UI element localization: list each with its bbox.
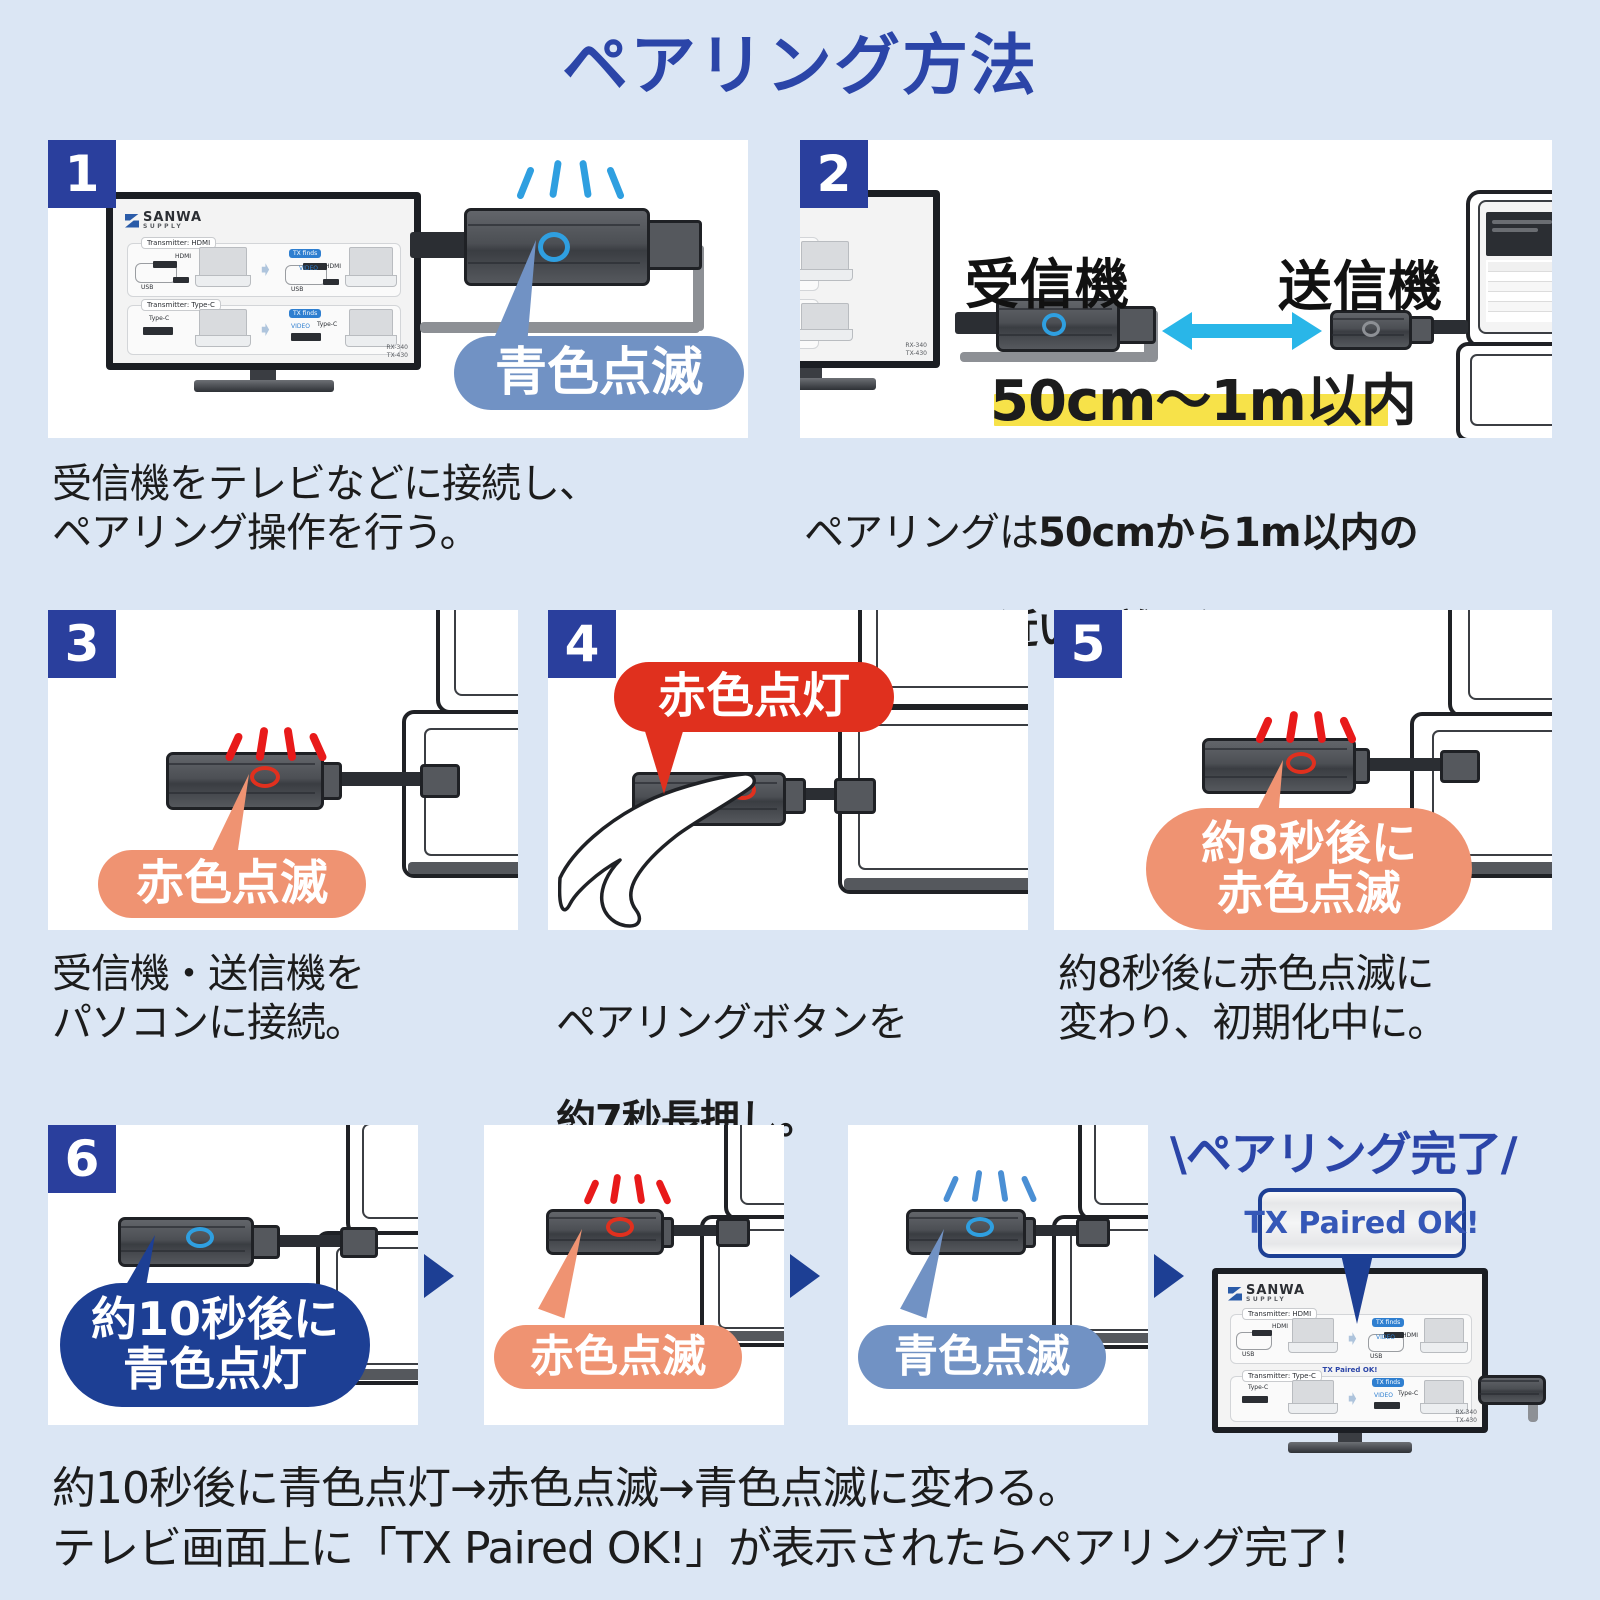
caption4-line1: ペアリングボタンを bbox=[556, 1000, 907, 1046]
sequence-arrow-2 bbox=[790, 1254, 820, 1298]
step-caption-4: ペアリングボタンを 約7秒長押し。 bbox=[556, 950, 1026, 1145]
step-badge-3: 3 bbox=[48, 610, 116, 678]
receiver-dongle-final bbox=[1478, 1375, 1540, 1399]
callout-10sec-blue-solid-6: 約10秒後に 青色点灯 bbox=[60, 1283, 370, 1407]
tv-illustration-2: ➧ TX finds HDMI USB ➧ TX finds Type-C bbox=[800, 190, 940, 390]
sanwa-logo: SANWA SUPPLY bbox=[125, 211, 202, 230]
led-indicator-off bbox=[1362, 321, 1380, 337]
tv-final-arrow-2: ➧ bbox=[1344, 1388, 1361, 1408]
tv-illustration-1: SANWA SUPPLY Transmitter: HDMI HDMI USB … bbox=[106, 192, 421, 392]
step-badge-5: 5 bbox=[1054, 610, 1122, 678]
step-panel-4: 4 赤色点灯 bbox=[548, 610, 1028, 930]
tv-final-lbl-video-1: VIDEO bbox=[1376, 1334, 1395, 1341]
sequence-arrow-1 bbox=[424, 1254, 454, 1298]
step-panel-6: 6 約10秒後に 青色点灯 bbox=[48, 1125, 418, 1425]
blink-rays-blue-1 bbox=[518, 158, 638, 204]
sanwa-brand-sub-final: SUPPLY bbox=[1246, 1297, 1305, 1303]
tv-label-video-2: VIDEO bbox=[291, 323, 310, 330]
tv-label-usb-1: USB bbox=[141, 284, 153, 291]
tv2-model-number: RX-340 TX-430 bbox=[905, 342, 927, 357]
step-caption-5: 約8秒後に赤色点滅に 変わり、初期化中に。 bbox=[1058, 950, 1558, 1048]
led-indicator-blue-solid-6 bbox=[186, 1227, 214, 1248]
laptop-illustration-2: 10s bbox=[1456, 190, 1552, 430]
callout-red-blink-b: 赤色点滅 bbox=[494, 1325, 742, 1389]
step-badge-4: 4 bbox=[548, 610, 616, 678]
pairing-complete-heading: \ペアリング完了/ bbox=[1170, 1118, 1517, 1184]
blink-rays-blue-c bbox=[946, 1169, 1042, 1207]
tv-label-hdmi-1: HDMI bbox=[175, 253, 191, 260]
blink-rays-red-3 bbox=[226, 726, 334, 766]
tv-final-tx-badge-1: TX finds bbox=[1372, 1318, 1404, 1327]
step-panel-5: 5 約8秒後に 赤色点滅 bbox=[1054, 610, 1552, 930]
tv-label-hdmi-2: HDMI bbox=[325, 263, 341, 270]
tv-final-lbl-typec-2: Type-C bbox=[1398, 1390, 1418, 1397]
sanwa-logo-final: SANWA SUPPLY bbox=[1228, 1284, 1305, 1303]
receiver-label: 受信機 bbox=[965, 240, 1130, 319]
tv-final-lbl-usb-2: USB bbox=[1370, 1353, 1382, 1360]
tv-final-lbl-hdmi-2: HDMI bbox=[1402, 1332, 1418, 1339]
step-badge-2: 2 bbox=[800, 140, 868, 208]
tv-model-number: RX-340 TX-430 bbox=[386, 344, 408, 359]
step-panel-2: 2 ➧ TX finds HDMI USB ➧ TX finds Type-C bbox=[800, 140, 1552, 438]
infographic-page: ペアリング方法 1 SANWA SUPPLY Transmitter: HDMI bbox=[0, 0, 1600, 1600]
callout-8sec-red-blink-5: 約8秒後に 赤色点滅 bbox=[1146, 808, 1472, 930]
tv-final-tx-badge-2: TX finds bbox=[1372, 1378, 1404, 1387]
step-badge-1: 1 bbox=[48, 140, 116, 208]
tv-final-lbl-usb-1: USB bbox=[1242, 1351, 1254, 1358]
bottom-caption-line2: テレビ画面上に「TX Paired OK!」が表示されたらペアリング完了！ bbox=[52, 1522, 1552, 1576]
page-title: ペアリング方法 bbox=[0, 12, 1600, 108]
tv-arrow-1: ➧ bbox=[257, 259, 274, 279]
tv-arrow-2: ➧ bbox=[257, 319, 274, 339]
callout-blue-blink-1: 青色点滅 bbox=[454, 336, 744, 410]
blink-rays-red-5 bbox=[1256, 710, 1362, 748]
sanwa-mark-icon-final bbox=[1228, 1287, 1242, 1301]
sequence-panel-red-blink: 赤色点滅 bbox=[484, 1125, 784, 1425]
led-indicator-red-b bbox=[606, 1217, 634, 1237]
sanwa-mark-icon bbox=[125, 214, 139, 228]
sanwa-brand-sub: SUPPLY bbox=[143, 224, 202, 230]
sequence-arrow-3 bbox=[1154, 1254, 1184, 1298]
tv-final-lbl-hdmi-1: HDMI bbox=[1272, 1323, 1288, 1330]
pairing-distance-text: 50cm〜1m以内 bbox=[990, 356, 1416, 437]
caption2-bold1: 50cmから1m以内の bbox=[1038, 510, 1418, 556]
tv-label-typec-1: Type-C bbox=[149, 315, 169, 322]
tx-paired-ok-popup: TX Paired OK! bbox=[1258, 1188, 1466, 1258]
callout-red-solid-4: 赤色点灯 bbox=[614, 662, 894, 732]
led-indicator-blue-c bbox=[966, 1217, 994, 1237]
laptop-illustration-4 bbox=[838, 610, 1028, 930]
sequence-panel-blue-blink: 青色点滅 bbox=[848, 1125, 1148, 1425]
tv-final-model-number: RX-340 TX-430 bbox=[1455, 1409, 1477, 1424]
callout-blue-blink-c: 青色点滅 bbox=[858, 1325, 1106, 1389]
bottom-caption-line1: 約10秒後に青色点灯→赤色点滅→青色点滅に変わる。 bbox=[52, 1462, 1552, 1516]
receiver-dongle-1 bbox=[464, 208, 644, 280]
tv-tx-badge-2: TX finds bbox=[289, 309, 321, 318]
tv-label-typec-2: Type-C bbox=[317, 321, 337, 328]
tx-paired-ok-popup-tail bbox=[1340, 1250, 1374, 1324]
tv-label-video-1: VIDEO bbox=[299, 265, 318, 272]
step-panel-1: 1 SANWA SUPPLY Transmitter: HDMI HDMI bbox=[48, 140, 748, 438]
tv-final-lbl-typec-1: Type-C bbox=[1248, 1384, 1268, 1391]
step-caption-1: 受信機をテレビなどに接続し、 ペアリング操作を行う。 bbox=[52, 460, 772, 558]
tv-final-arrow-1: ➧ bbox=[1344, 1328, 1361, 1348]
tv-final-lbl-video-2: VIDEO bbox=[1374, 1392, 1393, 1399]
step-badge-6: 6 bbox=[48, 1125, 116, 1193]
caption2-pre: ペアリングは bbox=[804, 510, 1038, 556]
callout-red-blink-3: 赤色点滅 bbox=[98, 850, 366, 918]
tv-label-usb-2: USB bbox=[291, 286, 303, 293]
tv-tx-badge-1: TX finds bbox=[289, 249, 321, 258]
step-caption-3: 受信機・送信機を パソコンに接続。 bbox=[52, 950, 522, 1048]
step-panel-3: 3 赤色点滅 bbox=[48, 610, 518, 930]
transmitter-label: 送信機 bbox=[1278, 242, 1443, 321]
blink-rays-red-b bbox=[586, 1173, 678, 1209]
